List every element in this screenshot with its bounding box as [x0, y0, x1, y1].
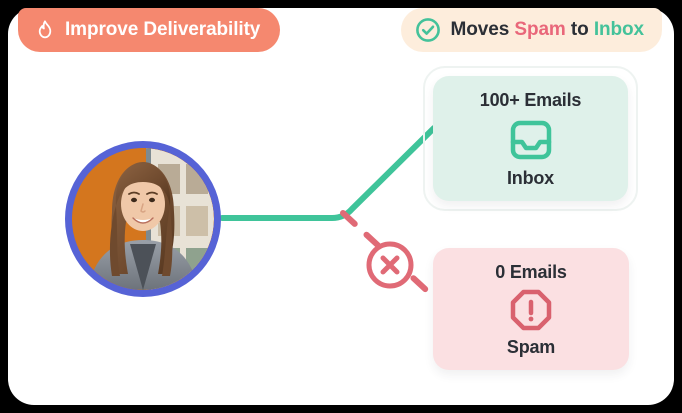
deliverability-illustration: 100+ Emails Inbox 0 Emails Spam Improve … — [0, 0, 682, 413]
spam-label: Spam — [507, 337, 555, 358]
inbox-destination[interactable]: 100+ Emails Inbox — [423, 66, 638, 211]
check-circle-icon — [415, 17, 441, 43]
improve-deliverability-label: Improve Deliverability — [65, 19, 260, 41]
badge-word-moves: Moves — [451, 19, 510, 40]
badge-word-to: to — [571, 19, 589, 40]
badge-word-inbox: Inbox — [594, 19, 644, 40]
improve-deliverability-badge[interactable]: Improve Deliverability — [18, 8, 280, 52]
inbox-tray-icon — [508, 117, 554, 163]
avatar — [65, 141, 221, 297]
flame-icon — [34, 19, 56, 41]
spam-card: 0 Emails Spam — [433, 248, 629, 370]
inbox-card: 100+ Emails Inbox — [433, 76, 628, 201]
octagon-alert-icon — [509, 288, 553, 332]
spam-destination[interactable]: 0 Emails Spam — [433, 248, 629, 370]
spam-count: 0 Emails — [495, 262, 566, 283]
avatar-photo — [72, 148, 214, 290]
inbox-count: 100+ Emails — [480, 90, 581, 111]
badge-word-spam: Spam — [514, 19, 565, 40]
moves-spam-to-inbox-badge[interactable]: Moves Spam to Inbox — [401, 8, 662, 52]
inbox-label: Inbox — [507, 168, 554, 189]
moves-spam-to-inbox-label: Moves Spam to Inbox — [451, 19, 644, 41]
